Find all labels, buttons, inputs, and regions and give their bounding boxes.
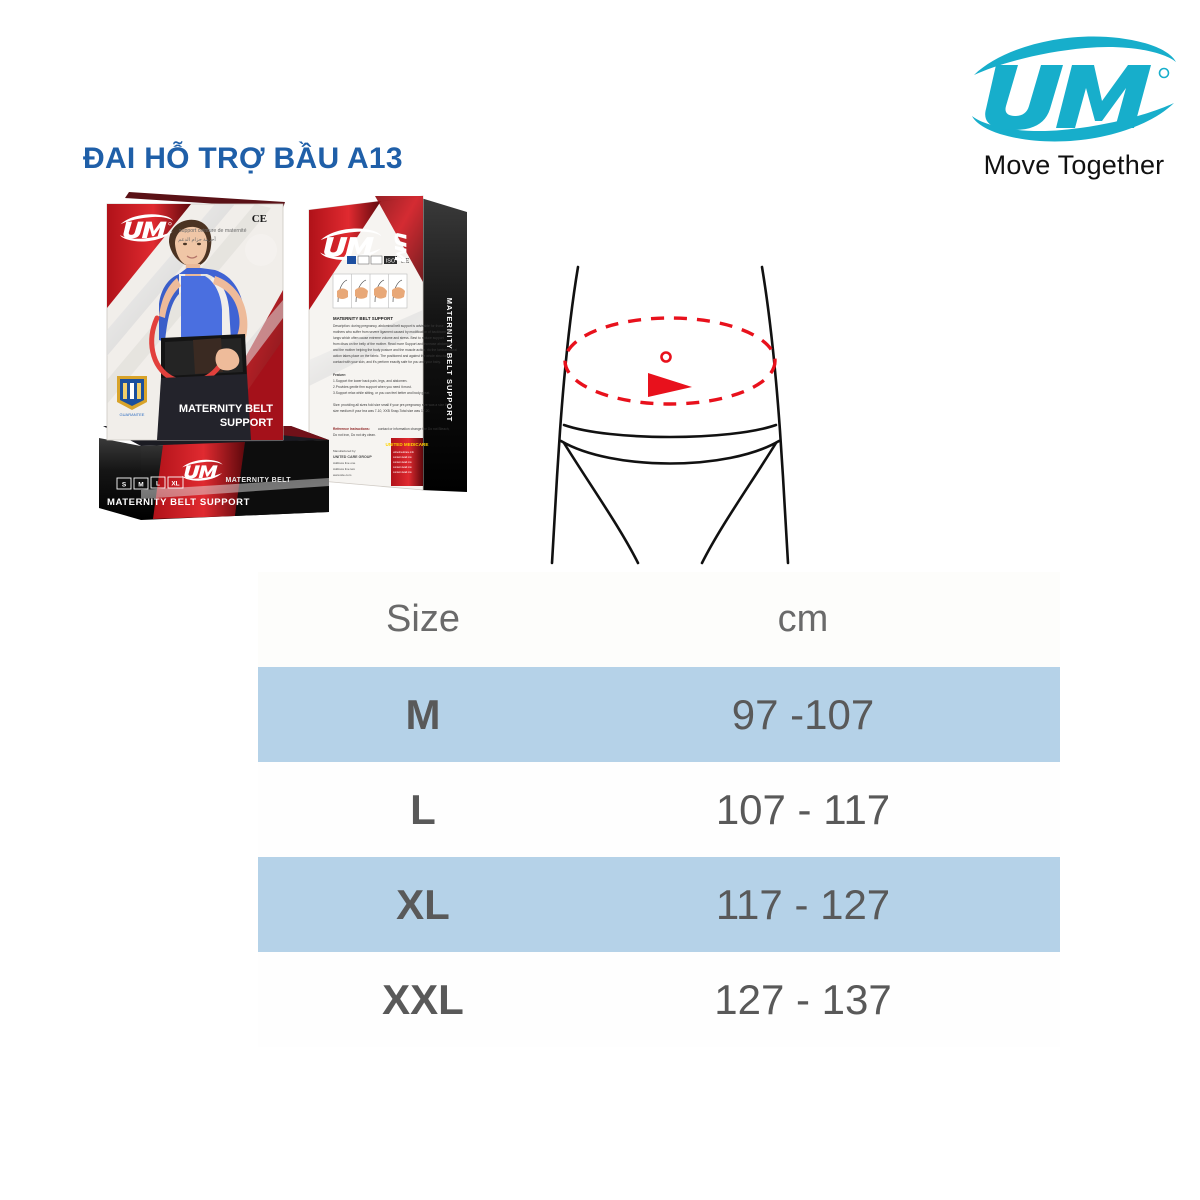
table-header-row: Size cm	[258, 572, 1060, 667]
svg-text:contact detail row: contact detail row	[393, 461, 412, 464]
svg-text:2.Provides gentle firm support: 2.Provides gentle firm support when you …	[333, 385, 412, 389]
um-logo-icon	[968, 28, 1180, 148]
svg-text:SUPPORT: SUPPORT	[220, 417, 273, 429]
svg-text:UNITED CARE GROUP: UNITED CARE GROUP	[333, 455, 372, 459]
navel-icon	[662, 353, 671, 362]
svg-text:MATERNITY BELT SUPPORT: MATERNITY BELT SUPPORT	[333, 316, 393, 321]
svg-text:3.Support relax while sitting,: 3.Support relax while sitting, or you ca…	[333, 391, 430, 395]
svg-text:S: S	[122, 482, 127, 489]
row-cm: 127 - 137	[588, 976, 1018, 1024]
table-row: L 107 - 117	[258, 762, 1060, 857]
svg-text:unitedmedicare info: unitedmedicare info	[393, 451, 415, 454]
svg-text:Size: providing all sizes fold: Size: providing all sizes fold size smal…	[333, 403, 453, 407]
svg-text:action takes place on the fabr: action takes place on the fabric. The po…	[333, 354, 449, 358]
direction-arrow-icon	[648, 373, 692, 397]
svg-text:XL: XL	[171, 481, 179, 488]
package-front-box: CE support ceinture de maternité أحزمة ح…	[107, 192, 285, 440]
svg-text:Feature:: Feature:	[333, 373, 346, 377]
svg-text:support ceinture de maternité: support ceinture de maternité	[179, 228, 247, 234]
table-row: XL 117 - 127	[258, 857, 1060, 952]
svg-text:ISO: ISO	[386, 259, 396, 265]
row-size: XL	[258, 881, 588, 929]
svg-text:contact with your skin, and it: contact with your skin, and it's perform…	[333, 360, 441, 364]
brand-tagline: Move Together	[968, 150, 1180, 181]
svg-text:GUARANTEE: GUARANTEE	[120, 412, 145, 417]
svg-text:MATERNITY BELT: MATERNITY BELT	[179, 403, 273, 415]
row-cm: 117 - 127	[588, 881, 1018, 929]
table-row: M 97 -107	[258, 667, 1060, 762]
svg-text:contact detail row: contact detail row	[393, 456, 412, 459]
svg-text:Reference Instructions:: Reference Instructions:	[333, 427, 370, 431]
svg-text:mothers who suffer from severe: mothers who suffer from severe ligament …	[333, 330, 453, 334]
svg-text:Description: during pregnancy,: Description: during pregnancy, abdominal…	[333, 324, 444, 328]
package-back-box: MATERNITY BELT SUPPORT ISO C	[309, 196, 467, 492]
svg-text:L: L	[156, 481, 160, 488]
header-size: Size	[258, 598, 588, 641]
table-row: XXL 127 - 137	[258, 952, 1060, 1047]
svg-text:contact or information change: contact or information change the Do not…	[378, 427, 450, 431]
svg-text:1.Support the lower back pain,: 1.Support the lower back pain, legs, and…	[333, 379, 407, 383]
svg-text:contact detail row: contact detail row	[393, 471, 412, 474]
page-title: ĐAI HỖ TRỢ BẦU A13	[83, 142, 403, 176]
svg-text:Address line one: Address line one	[333, 461, 356, 465]
svg-text:M: M	[138, 482, 143, 489]
row-size: XXL	[258, 976, 588, 1024]
size-chart-table: Size cm M 97 -107 L 107 - 117 XL 117 - 1…	[258, 572, 1060, 1046]
svg-text:أحزمة حزام الدعم: أحزمة حزام الدعم	[178, 235, 216, 243]
svg-text:Address line two: Address line two	[333, 467, 355, 471]
svg-text:size medium if your bra was 7-: size medium if your bra was 7-10, XXB Sn…	[333, 409, 430, 413]
svg-text:Manufactured by:: Manufactured by:	[333, 449, 356, 453]
svg-text:Do not iron, Do not dry clean.: Do not iron, Do not dry clean.	[333, 433, 376, 437]
svg-text:contact detail row: contact detail row	[393, 466, 412, 469]
waist-measurement-diagram	[520, 245, 820, 565]
svg-text:MATERNITY BELT SUPPORT: MATERNITY BELT SUPPORT	[107, 497, 250, 508]
svg-text:CE: CE	[252, 213, 267, 225]
svg-text:lungs which often cause extrem: lungs which often cause extreme volume a…	[333, 336, 444, 340]
row-cm: 107 - 117	[588, 786, 1018, 834]
svg-text:and the mother helping the bod: and the mother helping the body posture …	[333, 348, 457, 352]
size-chart-page: Move Together ĐAI HỖ TRỢ BẦU A13	[0, 0, 1200, 1200]
svg-text:MATERNITY BELT: MATERNITY BELT	[226, 477, 292, 484]
svg-text:UNITED MEDICARE: UNITED MEDICARE	[386, 442, 429, 447]
row-cm: 97 -107	[588, 691, 1018, 739]
header-cm: cm	[588, 598, 1018, 641]
row-size: M	[258, 691, 588, 739]
svg-text:from discs on the belly of the: from discs on the belly of the mother. R…	[333, 342, 453, 346]
product-packaging-photo: MATERNITY BELT SUPPORT ISO C	[95, 190, 515, 525]
svg-text:www.site.com: www.site.com	[333, 473, 352, 477]
brand-logo: Move Together	[968, 28, 1180, 198]
row-size: L	[258, 786, 588, 834]
